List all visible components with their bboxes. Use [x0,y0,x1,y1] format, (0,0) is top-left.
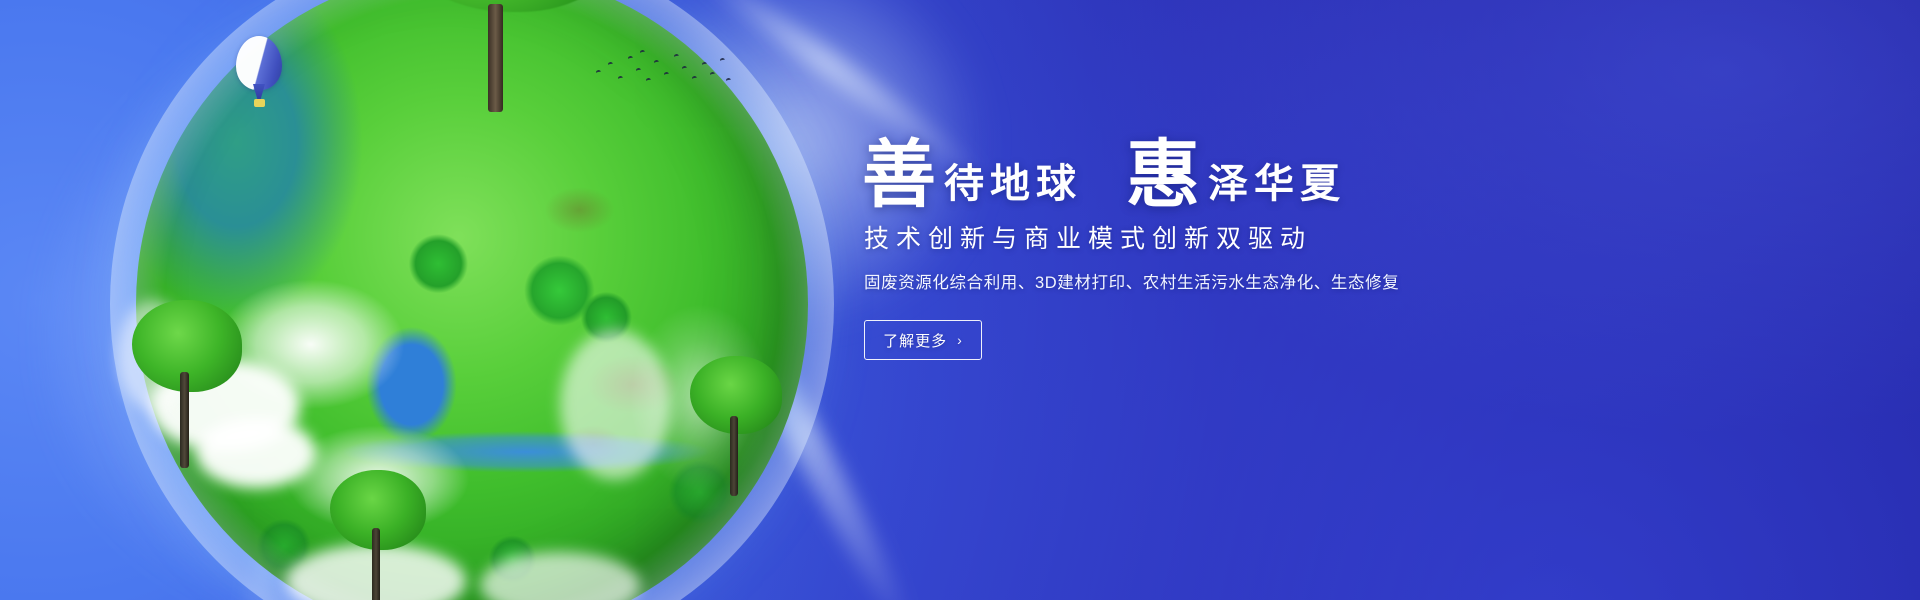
hot-air-balloon-icon [236,36,282,110]
bird-flock-icon [592,48,732,94]
headline-part2-small: 泽华夏 [1200,162,1346,212]
banner-copy: 善 待地球 惠 泽华夏 技术创新与商业模式创新双驱动 固废资源化综合利用、3D建… [862,126,1582,360]
banner-subtitle: 技术创新与商业模式创新双驱动 [864,222,1582,256]
tree-trunk [730,416,738,496]
learn-more-button[interactable]: 了解更多 › [864,320,982,360]
balloon-taper [253,84,265,100]
headline-part1-big: 善 [862,138,936,212]
headline-part2-big: 惠 [1126,138,1200,212]
cloud-icon [560,330,670,480]
hero-banner: 善 待地球 惠 泽华夏 技术创新与商业模式创新双驱动 固废资源化综合利用、3D建… [0,0,1920,600]
tree-trunk [488,4,503,112]
tree-icon [392,0,622,90]
chevron-right-icon: › [957,333,963,347]
tree-icon [132,300,242,470]
tree-trunk [180,372,189,468]
headline-part1-small: 待地球 [936,162,1082,212]
tree-icon [330,470,426,600]
balloon-envelope [236,36,282,90]
page-title: 善 待地球 惠 泽华夏 [862,126,1582,212]
banner-description: 固废资源化综合利用、3D建材打印、农村生活污水生态净化、生态修复 [864,270,1582,296]
tree-trunk [372,528,380,600]
learn-more-label: 了解更多 [883,330,947,351]
tree-icon [690,356,782,496]
tree-canopy [392,0,622,12]
balloon-basket [254,99,265,107]
